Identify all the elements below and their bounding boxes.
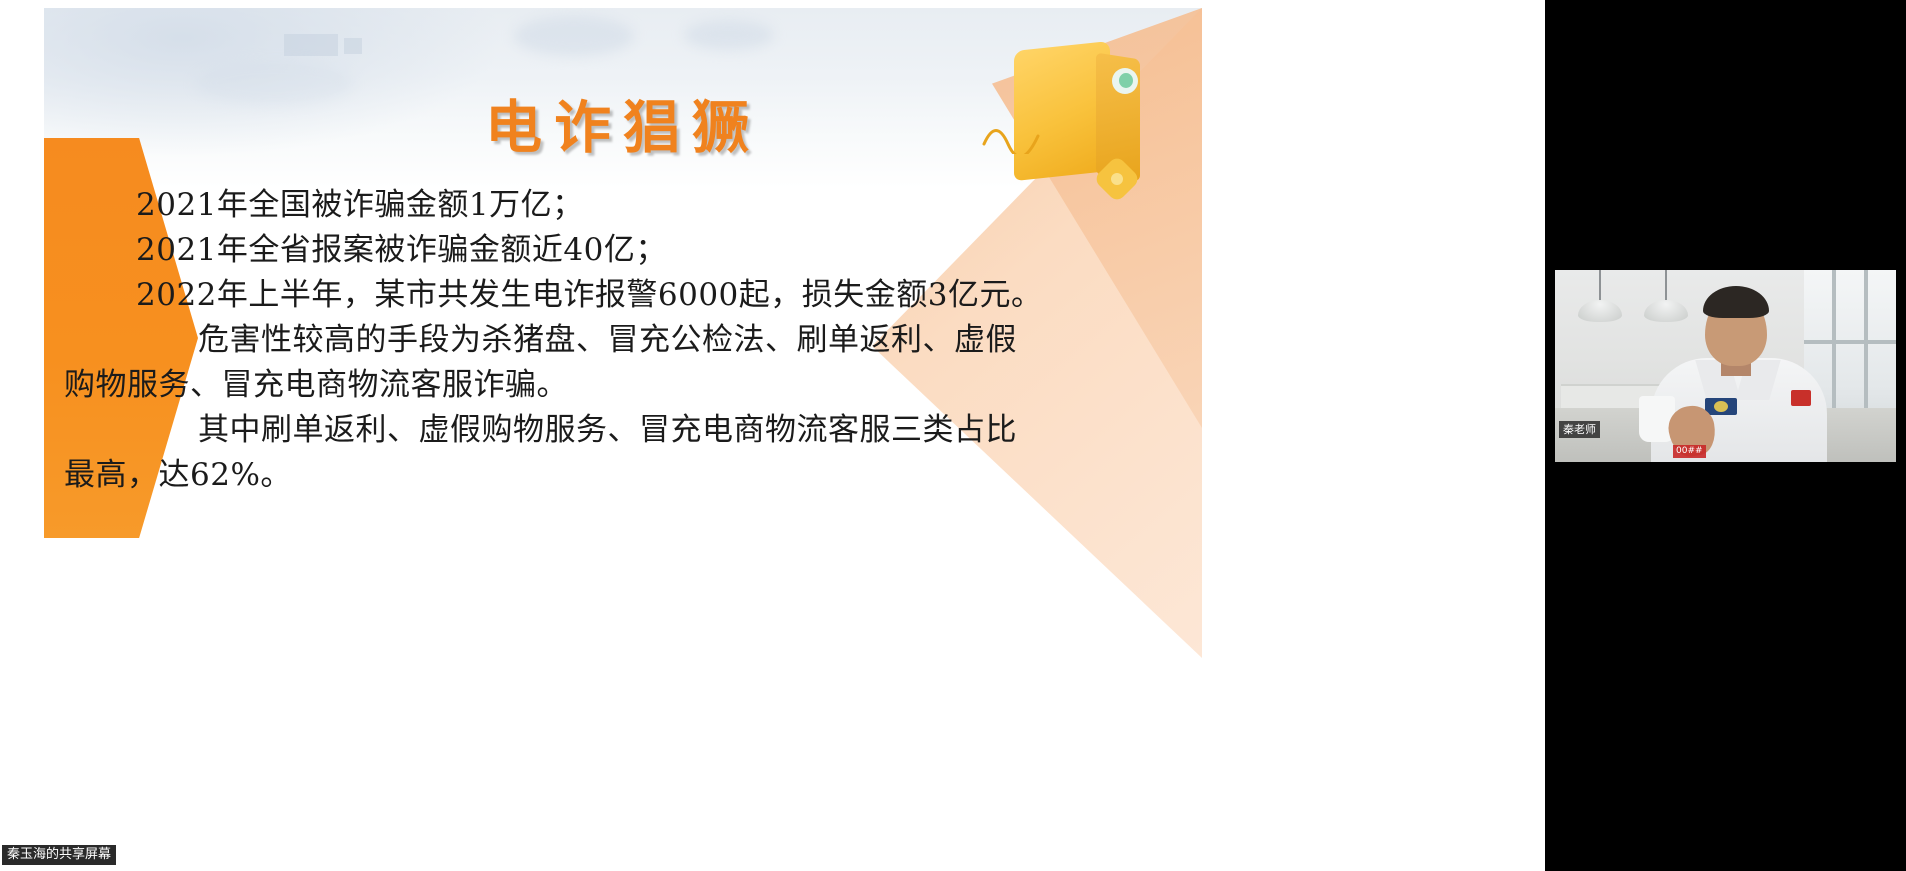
lamp-icon [1644,300,1688,322]
wash-rect-decor-2 [344,38,362,54]
slide-body-line: 最高，达62%。 [64,453,1126,498]
wash-rect-decor-1 [284,34,338,56]
share-screen-label: 秦玉海的共享屏幕 [2,845,116,865]
slide-body-text: 2021年全国被诈骗金额1万亿； 2021年全省报案被诈骗金额近40亿； 202… [136,183,1126,498]
shared-screen-region: 电诈猖獗 2021年全国被诈骗金额1万亿； 2021年全省报案被诈骗金额近40亿… [0,0,1545,871]
participant-video-tile[interactable]: 秦老师 00## [1555,270,1896,462]
presentation-slide: 电诈猖獗 2021年全国被诈骗金额1万亿； 2021年全省报案被诈骗金额近40亿… [44,8,1202,658]
participant-name-label: 秦老师 [1559,421,1600,438]
wash-blob-decor-1 [514,16,634,56]
uniform-badge-icon [1705,398,1737,415]
slide-body-line: 2022年上半年，某市共发生电诈报警6000起，损失金额3亿元。 [136,273,1126,318]
slide-body-line: 2021年全省报案被诈骗金额近40亿； [136,228,1126,273]
video-panel: 秦老师 00## [1545,0,1906,871]
slide-body-line: 购物服务、冒充电商物流客服诈骗。 [64,363,1126,408]
uniform-flag-icon [1791,390,1811,406]
lamp-icon [1578,300,1622,322]
slide-body-line: 危害性较高的手段为杀猪盘、冒充公检法、刷单返利、虚假 [136,318,1126,363]
slide-body-line: 其中刷单返利、虚假购物服务、冒充电商物流客服三类占比 [136,408,1126,453]
wash-blob-decor-2 [684,20,774,50]
slide-title: 电诈猖獗 [44,82,1202,164]
slide-body-line: 2021年全国被诈骗金额1万亿； [136,183,1126,228]
app-window: 电诈猖獗 2021年全国被诈骗金额1万亿； 2021年全省报案被诈骗金额近40亿… [0,0,1906,871]
participant-rank-badge: 00## [1673,445,1706,458]
